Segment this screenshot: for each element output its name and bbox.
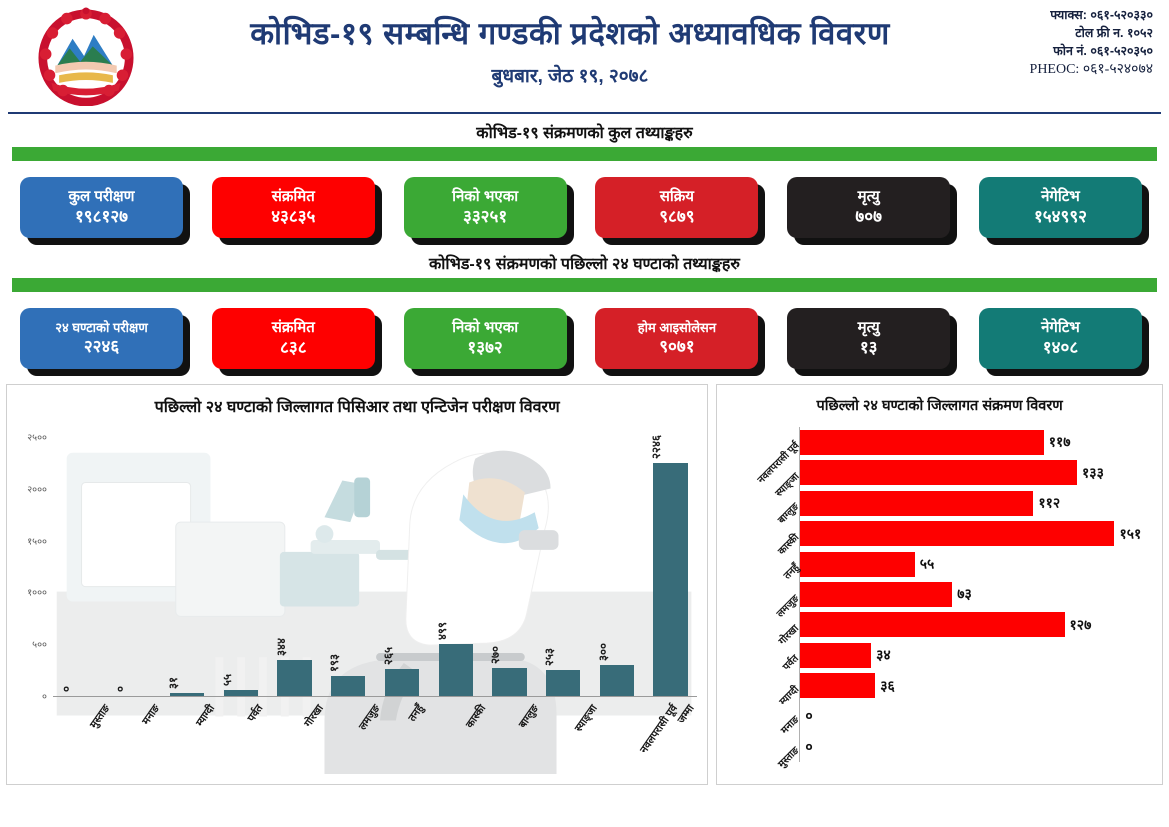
bar <box>492 668 526 696</box>
stat-card: निको भएका३३२५१ <box>404 177 574 245</box>
bar-value-label: ३४४ <box>274 638 289 656</box>
stat-card-value: २२४६ <box>84 336 119 357</box>
chart-panel-testing: पछिल्लो २४ घण्टाको जिल्लागत पिसिआर तथा ए… <box>6 384 708 785</box>
stat-card-label: संक्रमित <box>272 188 315 207</box>
bar <box>800 582 952 607</box>
section-1-label: कोभिड-१९ संक्रमणको कुल तथ्याङ्कहरु <box>0 118 1169 147</box>
bar-row-inner: ११२ <box>800 491 1154 516</box>
bar-value-label: ० <box>59 686 74 692</box>
bar <box>800 612 1064 637</box>
bar-column: ३१ <box>170 437 204 696</box>
bar-row: ७३ <box>800 579 1154 609</box>
contact-info: फ्याक्स: ०६१-५२०३३० टोल फ्री न. १०५२ फोन… <box>1030 6 1153 81</box>
bar-row: ३६ <box>800 671 1154 701</box>
section-1-green-bar <box>12 147 1157 161</box>
stat-card-body: मृत्यु७०७ <box>787 177 950 238</box>
stat-card-value: ९८७९ <box>659 206 694 227</box>
bar-value-label: ३०० <box>596 643 611 661</box>
bar <box>800 643 871 668</box>
stat-card-row-24h: २४ घण्टाको परीक्षण२२४६संक्रमित८३८निको भए… <box>0 292 1169 376</box>
bar-column: २५३ <box>546 437 580 696</box>
y-axis-category-label: म्याग्दी <box>776 682 802 708</box>
contact-pheoc: PHEOC: ०६१-५२४०७४ <box>1030 60 1153 80</box>
stat-card-value: १३७२ <box>467 337 502 358</box>
stat-card-body: मृत्यु१३ <box>787 308 950 369</box>
bar-row: ११७ <box>800 427 1154 457</box>
stat-card: २४ घण्टाको परीक्षण२२४६ <box>20 308 190 376</box>
vertical-bar-chart: ०५००१०००१५००२०००२५०० ००३१५५३४४१९३२६५४९९२… <box>7 423 707 784</box>
stat-card-body: कुल परीक्षण१९८१२७ <box>20 177 183 238</box>
stat-card: नेगेटिभ१४०८ <box>979 308 1149 376</box>
stat-card: मृत्यु१३ <box>787 308 957 376</box>
bar <box>800 673 875 698</box>
bar-value-label: ३६ <box>880 676 895 695</box>
bar <box>331 676 365 696</box>
bar-row-inner: ३४ <box>800 643 1154 668</box>
stat-card-body: २४ घण्टाको परीक्षण२२४६ <box>20 308 183 369</box>
y-axis-category-label: तनहुँ <box>780 560 802 582</box>
bar-value-label: ११७ <box>1049 433 1071 452</box>
bar-column: ५५ <box>224 437 258 696</box>
bar-value-label: ३४ <box>876 646 891 665</box>
stat-card-label: मृत्यु <box>858 188 880 207</box>
bar <box>653 463 687 696</box>
contact-phone: फोन नं. ०६१-५२०३५० <box>1030 42 1153 60</box>
bar-column: ३०० <box>600 437 634 696</box>
section-2-green-bar <box>12 278 1157 292</box>
bar-column: १९३ <box>331 437 365 696</box>
bar-row-inner: ७३ <box>800 582 1154 607</box>
contact-toll-free: टोल फ्री न. १०५२ <box>1030 24 1153 42</box>
chart-title-testing: पछिल्लो २४ घण्टाको जिल्लागत पिसिआर तथा ए… <box>7 385 707 419</box>
y-axis-tick-label: ० <box>42 690 47 703</box>
bar-row-inner: १५१ <box>800 521 1154 546</box>
bar-value-label: २५३ <box>542 648 557 666</box>
stat-card-value: ३३२५१ <box>463 206 507 227</box>
bar-value-label: ० <box>805 707 812 726</box>
stat-card: निको भएका१३७२ <box>404 308 574 376</box>
bar-value-label: ३१ <box>166 677 181 689</box>
bar-row: ० <box>800 701 1154 731</box>
stat-card-body: निको भएका१३७२ <box>404 308 567 369</box>
y-axis-category-label: मनाङ <box>777 712 801 736</box>
bar-row: १३३ <box>800 457 1154 487</box>
bar-value-label: १९३ <box>327 654 342 672</box>
bar-column: ३४४ <box>277 437 311 696</box>
section-total-stats: कोभिड-१९ संक्रमणको कुल तथ्याङ्कहरु कुल प… <box>0 118 1169 245</box>
x-axis-line <box>53 696 697 697</box>
stat-card: होम आइसोलेसन९०७१ <box>595 308 765 376</box>
section-2-label: कोभिड-१९ संक्रमणको पछिल्लो २४ घण्टाको तथ… <box>0 249 1169 278</box>
bar <box>800 430 1043 455</box>
stat-card-value: १९८१२७ <box>75 206 128 227</box>
stat-card: संक्रमित८३८ <box>212 308 382 376</box>
stat-card-row-total: कुल परीक्षण१९८१२७संक्रमित४३८३५निको भएका३… <box>0 161 1169 245</box>
stat-card: कुल परीक्षण१९८१२७ <box>20 177 190 245</box>
bar-column: २६५ <box>385 437 419 696</box>
charts-area: पछिल्लो २४ घण्टाको जिल्लागत पिसिआर तथा ए… <box>0 376 1169 791</box>
stat-card-value: १४०८ <box>1043 337 1078 358</box>
title-block: कोभिड-१९ सम्बन्धि गण्डकी प्रदेशको अध्याव… <box>160 16 980 88</box>
y-axis-category-label: कास्की <box>774 530 801 557</box>
y-axis-tick-label: १५०० <box>27 534 47 547</box>
stat-card-value: ७०७ <box>855 206 882 227</box>
bar-row-inner: ३६ <box>800 673 1154 698</box>
stat-card: मृत्यु७०७ <box>787 177 957 245</box>
bar <box>277 660 311 696</box>
horizontal-bars-plot: ११७नवलपरासी पूर्व१३३स्याङ्जा११२बाग्लुङ१५… <box>799 427 1154 762</box>
bar-column: २२४६ <box>653 437 687 696</box>
bar-value-label: १५१ <box>1119 524 1141 543</box>
chart-title-infection: पछिल्लो २४ घण्टाको जिल्लागत संक्रमण विवर… <box>717 385 1162 417</box>
bar <box>600 665 634 696</box>
bar-value-label: १३३ <box>1082 463 1104 482</box>
bar-row: १२७ <box>800 610 1154 640</box>
stat-card-body: नेगेटिभ१४०८ <box>979 308 1142 369</box>
bar <box>546 670 580 696</box>
bar-row: ३४ <box>800 640 1154 670</box>
stat-card-label: होम आइसोलेसन <box>638 320 716 336</box>
bar-value-label: १२७ <box>1070 615 1092 634</box>
section-24h-stats: कोभिड-१९ संक्रमणको पछिल्लो २४ घण्टाको तथ… <box>0 249 1169 376</box>
y-axis-category-label: बाग्लुङ <box>774 499 801 526</box>
stat-card-label: २४ घण्टाको परीक्षण <box>55 320 148 336</box>
bar <box>800 491 1033 516</box>
bar-row-inner: ११७ <box>800 430 1154 455</box>
stat-card-body: संक्रमित४३८३५ <box>212 177 375 238</box>
stat-card: संक्रमित४३८३५ <box>212 177 382 245</box>
stat-card-label: मृत्यु <box>858 319 880 338</box>
bar <box>800 521 1114 546</box>
stat-card-body: सक्रिय९८७९ <box>595 177 758 238</box>
stat-card-body: संक्रमित८३८ <box>212 308 375 369</box>
stat-card-body: नेगेटिभ१५४९९२ <box>979 177 1142 238</box>
bar-value-label: ७३ <box>957 585 972 604</box>
bar-column: ० <box>116 437 150 696</box>
bar-row: १५१ <box>800 518 1154 548</box>
vertical-bars-plot: ००३१५५३४४१९३२६५४९९२७०२५३३००२२४६ <box>53 437 697 696</box>
bar-row: ० <box>800 732 1154 762</box>
page-title: कोभिड-१९ सम्बन्धि गण्डकी प्रदेशको अध्याव… <box>160 16 980 52</box>
bar-column: २७० <box>492 437 526 696</box>
bar-row-inner: १२७ <box>800 612 1154 637</box>
stat-card-label: नेगेटिभ <box>1041 188 1080 207</box>
page-date: बुधबार, जेठ १९, २०७८ <box>160 62 980 88</box>
bar-value-label: ० <box>113 686 128 692</box>
header-divider <box>8 112 1161 114</box>
bar-row-inner: १३३ <box>800 460 1154 485</box>
y-axis-ticks: ०५००१०००१५००२०००२५०० <box>47 437 48 696</box>
stat-card: सक्रिय९८७९ <box>595 177 765 245</box>
bar-value-label: ११२ <box>1038 494 1060 513</box>
stat-card-label: संक्रमित <box>272 319 315 338</box>
stat-card-label: निको भएका <box>452 319 518 338</box>
stat-card-label: निको भएका <box>452 188 518 207</box>
y-axis-category-label: मुस्ताङ <box>774 743 801 770</box>
stat-card-value: ४३८३५ <box>271 206 315 227</box>
y-axis-tick-label: ५०० <box>32 638 47 651</box>
stat-card-value: ८३८ <box>280 337 307 358</box>
bar-row: ५५ <box>800 549 1154 579</box>
stat-card-body: होम आइसोलेसन९०७१ <box>595 308 758 369</box>
bar-row: ११२ <box>800 488 1154 518</box>
stat-card-value: ९०७१ <box>659 336 694 357</box>
stat-card-value: १३ <box>860 337 878 358</box>
bar <box>800 460 1077 485</box>
bar-row-inner: ० <box>800 734 1154 759</box>
y-axis-tick-label: २००० <box>27 482 47 495</box>
bar-row-inner: ० <box>800 704 1154 729</box>
bar-column: ० <box>63 437 97 696</box>
nepal-emblem-icon <box>38 6 134 106</box>
stat-card: नेगेटिभ१५४९९२ <box>979 177 1149 245</box>
bar-value-label: २७० <box>488 646 503 664</box>
bar-value-label: ५५ <box>920 555 935 574</box>
bar-column: ४९९ <box>439 437 473 696</box>
bar-value-label: ५५ <box>220 674 235 686</box>
horizontal-bar-chart: ११७नवलपरासी पूर्व१३३स्याङ्जा११२बाग्लुङ१५… <box>717 419 1162 784</box>
bar-value-label: ४९९ <box>435 622 450 640</box>
bar-row-inner: ५५ <box>800 552 1154 577</box>
bar-value-label: ० <box>805 737 812 756</box>
page-header: कोभिड-१९ सम्बन्धि गण्डकी प्रदेशको अध्याव… <box>0 0 1169 112</box>
y-axis-category-label: लमजुङ <box>773 591 802 620</box>
y-axis-category-label: पर्वत <box>779 651 801 673</box>
bar-value-label: २६५ <box>381 647 396 665</box>
y-axis-category-label: गोरखा <box>775 621 801 647</box>
y-axis-tick-label: २५०० <box>27 431 47 444</box>
bar <box>439 644 473 696</box>
contact-fax: फ्याक्स: ०६१-५२०३३० <box>1030 6 1153 24</box>
bar <box>800 552 914 577</box>
bar-value-label: २२४६ <box>649 435 664 459</box>
stat-card-label: कुल परीक्षण <box>69 188 135 207</box>
stat-card-label: सक्रिय <box>660 188 694 207</box>
stat-card-label: नेगेटिभ <box>1041 319 1080 338</box>
stat-card-value: १५४९९२ <box>1034 206 1087 227</box>
bar <box>385 669 419 696</box>
y-axis-tick-label: १००० <box>27 586 47 599</box>
chart-panel-infection: पछिल्लो २४ घण्टाको जिल्लागत संक्रमण विवर… <box>716 384 1163 785</box>
stat-card-body: निको भएका३३२५१ <box>404 177 567 238</box>
